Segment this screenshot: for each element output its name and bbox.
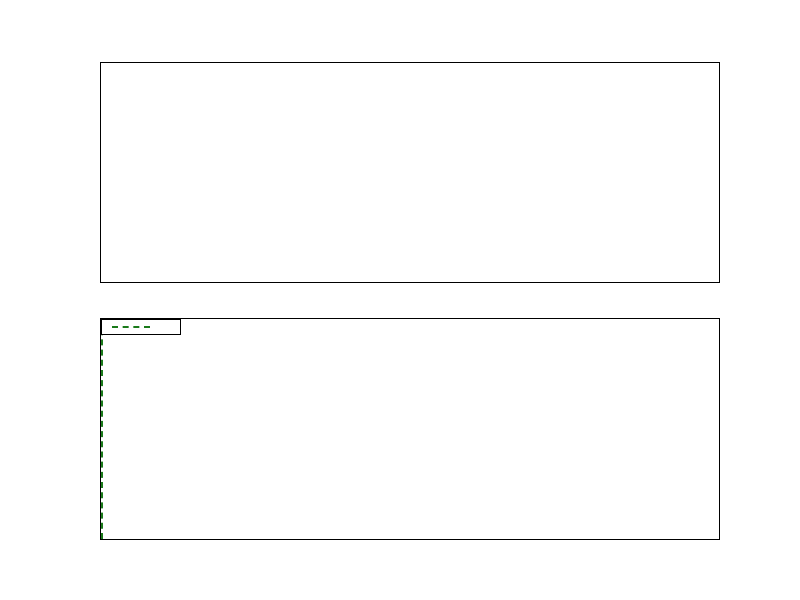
- cumulative-curve: [101, 319, 719, 539]
- bottom-cumulative-axes: [100, 318, 720, 540]
- top-plot-area: [101, 63, 719, 282]
- mag-limit-line: [101, 319, 103, 539]
- histogram-bars: [101, 63, 719, 282]
- top-histogram-axes: [100, 62, 720, 283]
- legend[interactable]: [101, 319, 181, 335]
- matplotlib-figure: [0, 0, 800, 600]
- legend-dashed-line-icon: [112, 326, 150, 328]
- bottom-plot-area: [101, 319, 719, 539]
